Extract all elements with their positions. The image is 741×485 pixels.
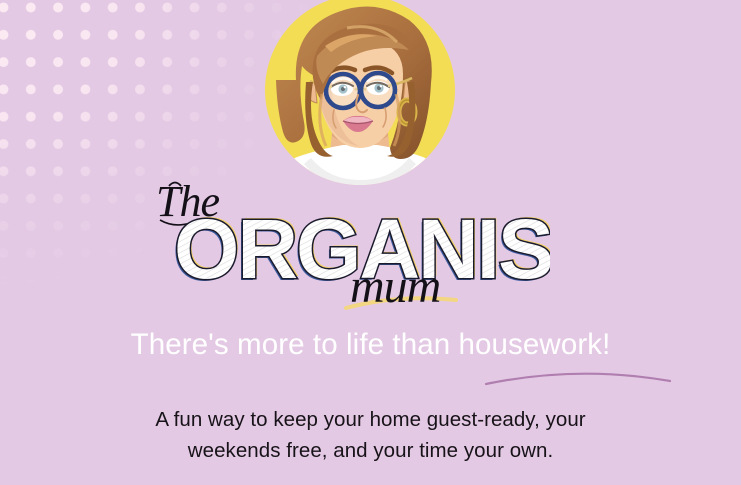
headline: There's more to life than housework!: [0, 327, 741, 363]
subtitle-line-1: A fun way to keep your home guest-ready,…: [90, 404, 651, 435]
portrait-illustration: [255, 0, 465, 194]
logo-script-mum: mum: [350, 260, 440, 313]
subtitle: A fun way to keep your home guest-ready,…: [90, 404, 651, 466]
promo-banner: The ORGANISED ORGANISED ORGANISED mum Th…: [0, 0, 741, 485]
headline-underline-swoosh: [483, 368, 673, 388]
subtitle-line-2: weekends free, and your time your own.: [90, 435, 651, 466]
logo-lockup: The ORGANISED ORGANISED ORGANISED mum: [150, 172, 550, 322]
